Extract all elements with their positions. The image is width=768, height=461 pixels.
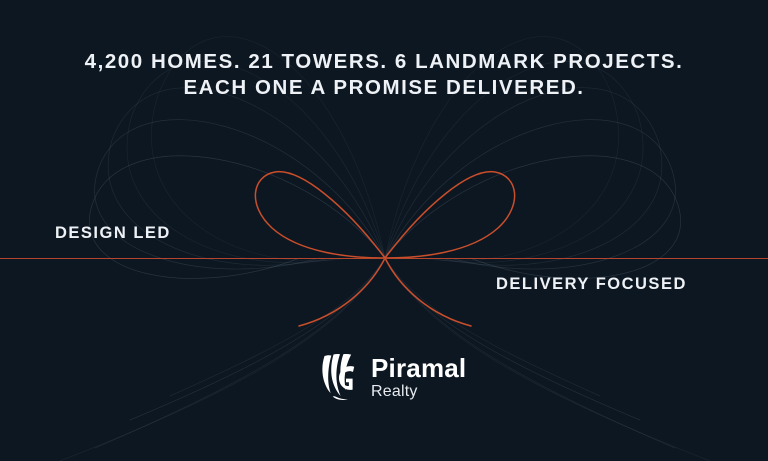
brand-logo: Piramal Realty bbox=[318, 352, 466, 402]
brand-subname: Realty bbox=[371, 384, 466, 400]
piramal-flame-icon bbox=[318, 352, 362, 402]
brand-name: Piramal bbox=[371, 355, 466, 381]
headline-line-1: 4,200 HOMES. 21 TOWERS. 6 LANDMARK PROJE… bbox=[85, 50, 684, 73]
horizontal-rule bbox=[0, 258, 768, 260]
label-delivery-focused: DELIVERY FOCUSED bbox=[496, 275, 687, 294]
label-design-led: DESIGN LED bbox=[55, 224, 171, 243]
poster-canvas: 4,200 HOMES. 21 TOWERS. 6 LANDMARK PROJE… bbox=[0, 0, 768, 461]
page-title: 4,200 HOMES. 21 TOWERS. 6 LANDMARK PROJE… bbox=[0, 49, 768, 101]
headline-line-2: EACH ONE A PROMISE DELIVERED. bbox=[0, 75, 768, 101]
brand-wordmark: Piramal Realty bbox=[371, 355, 466, 400]
